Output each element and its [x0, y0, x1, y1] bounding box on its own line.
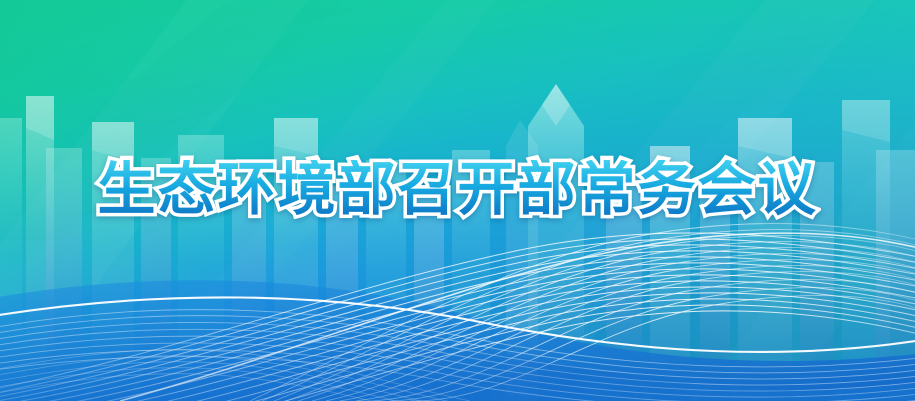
bottom-wash — [0, 0, 915, 401]
banner-image: 生态环境部召开部常务会议 生态环境部召开部常务会议 — [0, 0, 915, 401]
